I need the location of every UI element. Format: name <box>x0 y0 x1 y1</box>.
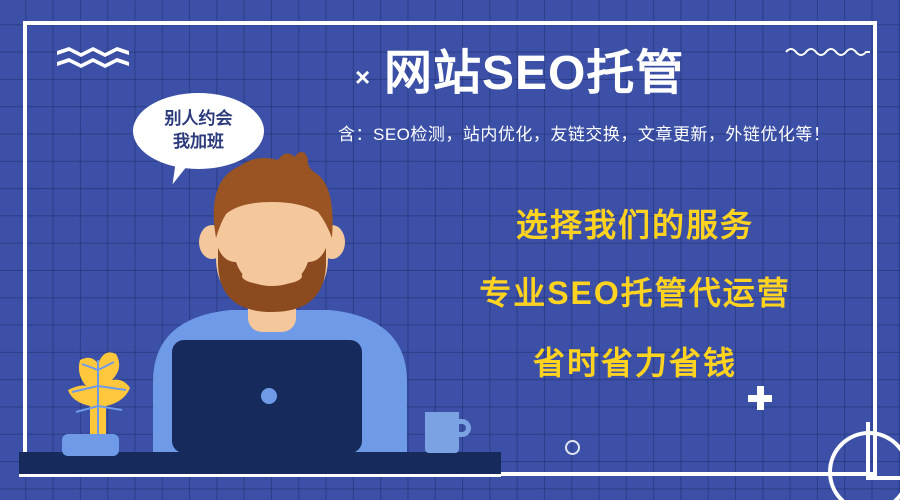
plant-pot <box>62 434 119 456</box>
seo-poster: × 网站SEO托管 含：SEO检测，站内优化，友链交换，文章更新，外链优化等！ … <box>0 0 900 500</box>
desk-edge-line <box>19 474 501 477</box>
coffee-mug-illustration <box>425 412 459 453</box>
laptop-logo-dot <box>261 388 277 404</box>
